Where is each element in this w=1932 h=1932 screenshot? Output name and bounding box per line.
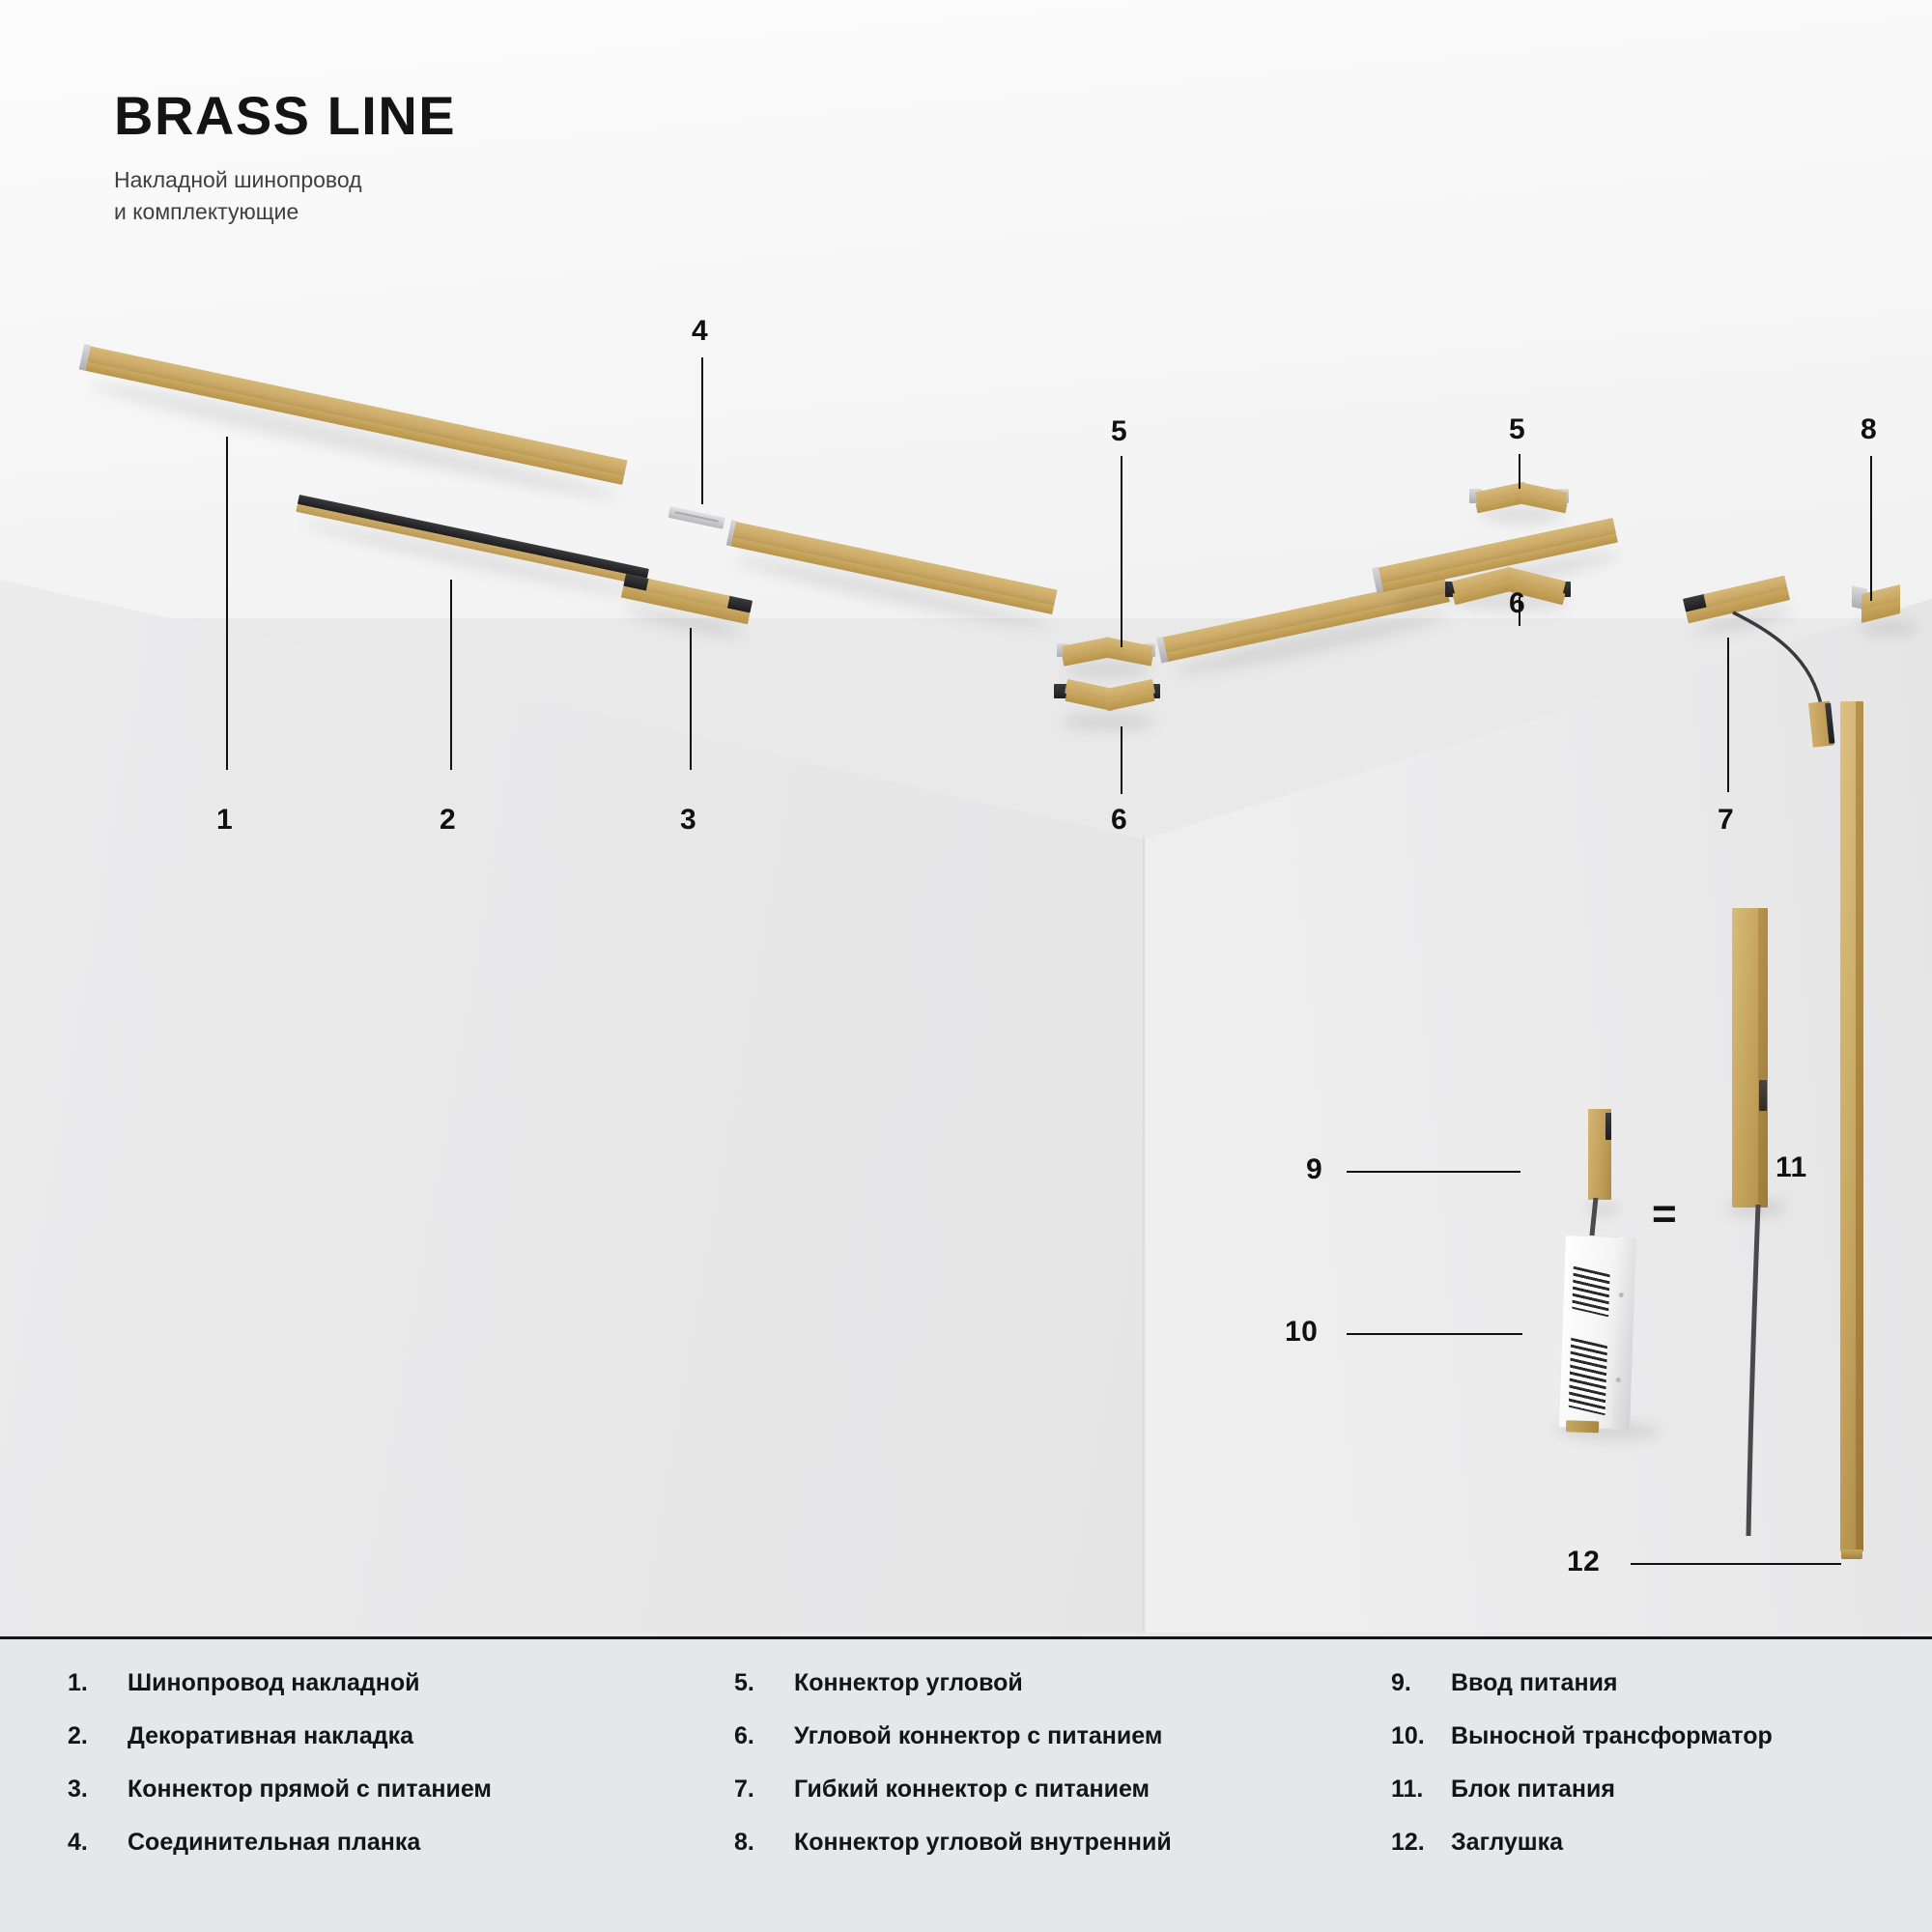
legend-item: 3.Коннектор прямой с питанием — [68, 1776, 492, 1804]
leader-line-4 — [701, 357, 703, 504]
page-subtitle-line1: Накладной шинопровод — [114, 164, 456, 196]
callout-6b: 6 — [1509, 587, 1525, 620]
legend-item: 4.Соединительная планка — [68, 1829, 492, 1857]
legend-item-number: 2. — [68, 1722, 128, 1750]
page-title: BRASS LINE — [114, 89, 456, 143]
callout-2: 2 — [440, 804, 456, 837]
legend-item-label: Коннектор угловой внутренний — [794, 1829, 1172, 1857]
callout-1: 1 — [216, 804, 233, 837]
power-supply-cable — [1739, 1203, 1777, 1541]
legend-item: 5.Коннектор угловой — [734, 1669, 1172, 1697]
legend-panel: 1.Шинопровод накладной2.Декоративная нак… — [0, 1636, 1932, 1932]
legend-column-2: 5.Коннектор угловой6.Угловой коннектор с… — [734, 1669, 1172, 1882]
callout-10: 10 — [1285, 1316, 1318, 1349]
leader-line-7 — [1727, 638, 1729, 792]
header-block: BRASS LINE Накладной шинопровод и компле… — [114, 89, 456, 227]
leader-line-8 — [1870, 456, 1872, 601]
leader-line-3 — [690, 628, 692, 770]
page-subtitle-line2: и комплектующие — [114, 196, 456, 228]
leader-line-9 — [1347, 1171, 1520, 1173]
legend-item: 8.Коннектор угловой внутренний — [734, 1829, 1172, 1857]
legend-item-number: 10. — [1391, 1722, 1451, 1750]
legend-item-label: Соединительная планка — [128, 1829, 420, 1857]
legend-item-number: 6. — [734, 1722, 794, 1750]
legend-item-number: 4. — [68, 1829, 128, 1857]
leader-line-5a — [1121, 456, 1122, 647]
callout-7: 7 — [1718, 804, 1734, 837]
legend-item: 12.Заглушка — [1391, 1829, 1773, 1857]
legend-item: 10.Выносной трансформатор — [1391, 1722, 1773, 1750]
callout-11: 11 — [1776, 1151, 1807, 1184]
legend-item-number: 7. — [734, 1776, 794, 1804]
legend-item-number: 11. — [1391, 1776, 1451, 1804]
callout-9: 9 — [1306, 1153, 1322, 1186]
callout-3: 3 — [680, 804, 696, 837]
callout-5b: 5 — [1509, 413, 1525, 446]
legend-item-number: 3. — [68, 1776, 128, 1804]
callout-4: 4 — [692, 315, 708, 348]
legend-item-label: Заглушка — [1451, 1829, 1563, 1857]
legend-item: 6.Угловой коннектор с питанием — [734, 1722, 1172, 1750]
legend-item: 11.Блок питания — [1391, 1776, 1773, 1804]
legend-item-label: Угловой коннектор с питанием — [794, 1722, 1162, 1750]
legend-item-label: Коннектор угловой — [794, 1669, 1023, 1697]
page-subtitle: Накладной шинопровод и комплектующие — [114, 164, 456, 227]
legend-item-number: 8. — [734, 1829, 794, 1857]
leader-line-12 — [1631, 1563, 1841, 1565]
legend-item: 7.Гибкий коннектор с питанием — [734, 1776, 1172, 1804]
legend-item-label: Коннектор прямой с питанием — [128, 1776, 492, 1804]
legend-item-number: 5. — [734, 1669, 794, 1697]
leader-line-5b — [1519, 454, 1520, 489]
room-scene: = 1 — [0, 0, 1932, 1633]
legend-item: 1.Шинопровод накладной — [68, 1669, 492, 1697]
leader-line-2 — [450, 580, 452, 770]
legend-item-number: 9. — [1391, 1669, 1451, 1697]
equals-sign: = — [1652, 1190, 1677, 1238]
leader-line-10 — [1347, 1333, 1522, 1335]
product-diagram-page: = 1 — [0, 0, 1932, 1932]
legend-item-label: Декоративная накладка — [128, 1722, 413, 1750]
leader-line-6a — [1121, 726, 1122, 794]
callout-12: 12 — [1567, 1546, 1600, 1578]
callout-5a: 5 — [1111, 415, 1127, 448]
legend-item: 2.Декоративная накладка — [68, 1722, 492, 1750]
legend-item: 9.Ввод питания — [1391, 1669, 1773, 1697]
legend-item-number: 12. — [1391, 1829, 1451, 1857]
wall-corner-edge — [1143, 837, 1148, 1633]
leader-line-1 — [226, 437, 228, 770]
legend-item-label: Гибкий коннектор с питанием — [794, 1776, 1150, 1804]
flexible-connector-cable — [1729, 607, 1855, 742]
legend-item-label: Выносной трансформатор — [1451, 1722, 1773, 1750]
legend-item-label: Шинопровод накладной — [128, 1669, 420, 1697]
callout-8: 8 — [1861, 413, 1877, 446]
legend-item-label: Ввод питания — [1451, 1669, 1618, 1697]
legend-column-1: 1.Шинопровод накладной2.Декоративная нак… — [68, 1669, 492, 1882]
callout-6a: 6 — [1111, 804, 1127, 837]
legend-column-3: 9.Ввод питания10.Выносной трансформатор1… — [1391, 1669, 1773, 1882]
legend-item-number: 1. — [68, 1669, 128, 1697]
legend-divider — [0, 1636, 1932, 1639]
legend-item-label: Блок питания — [1451, 1776, 1615, 1804]
